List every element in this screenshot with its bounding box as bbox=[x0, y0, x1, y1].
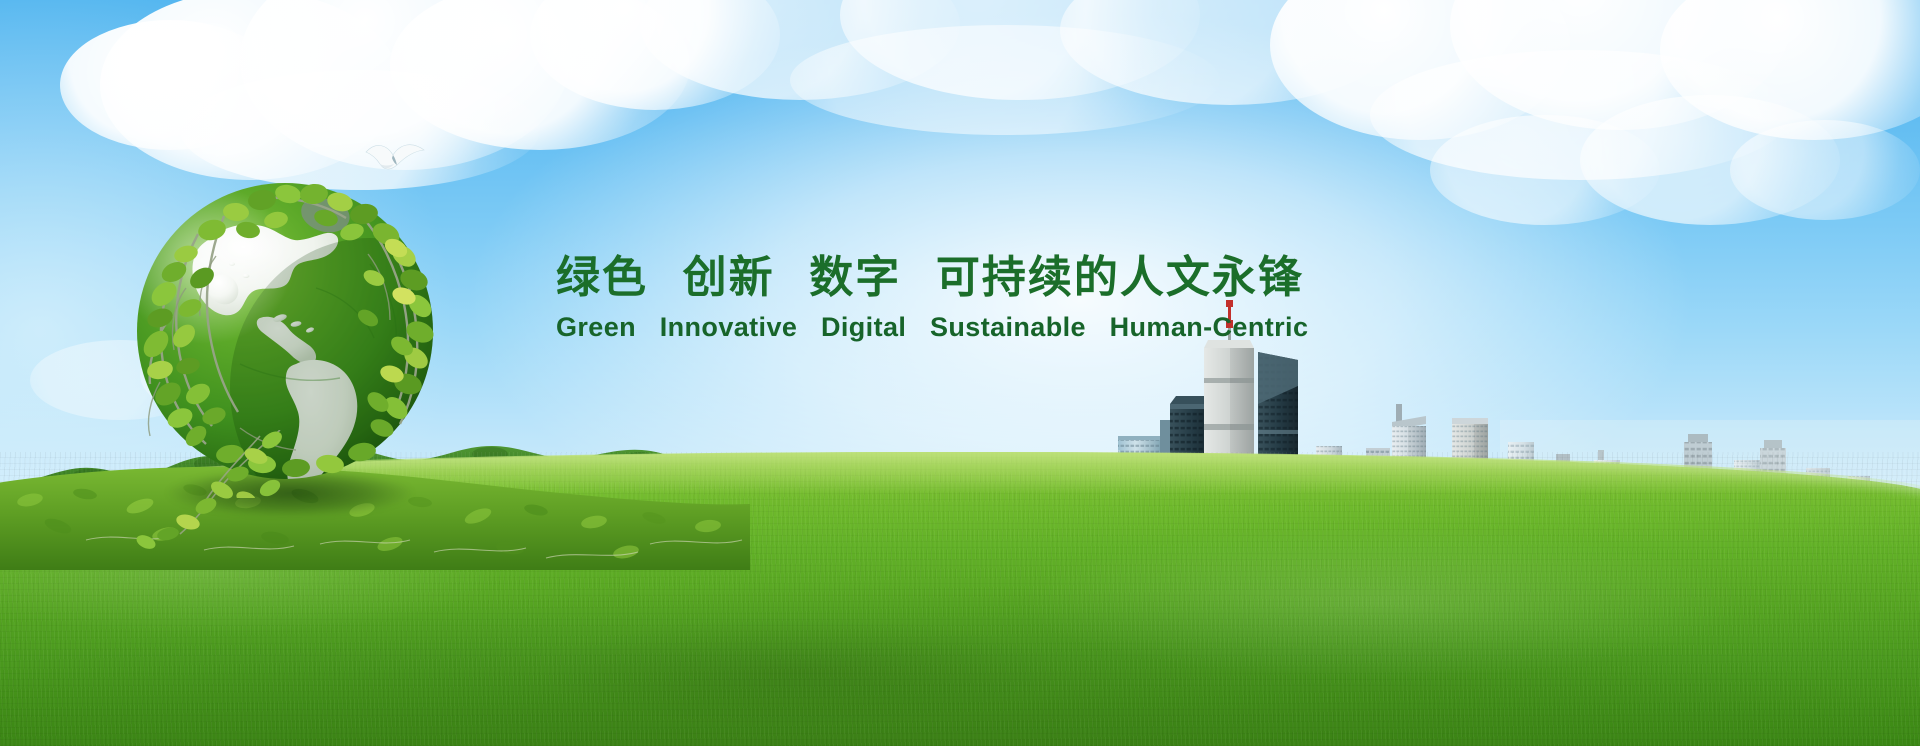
cloud-icon bbox=[1430, 95, 1900, 245]
green-sustainability-banner: 绿色 创新 数字 可持续的人文永锋 Green Innovative Digit… bbox=[0, 0, 1920, 746]
falling-leaves bbox=[110, 430, 320, 550]
page-subtitle: Green Innovative Digital Sustainable Hum… bbox=[556, 312, 1296, 343]
banner-text-block: 绿色 创新 数字 可持续的人文永锋 Green Innovative Digit… bbox=[556, 255, 1296, 343]
page-title: 绿色 创新 数字 可持续的人文永锋 bbox=[556, 255, 1296, 302]
